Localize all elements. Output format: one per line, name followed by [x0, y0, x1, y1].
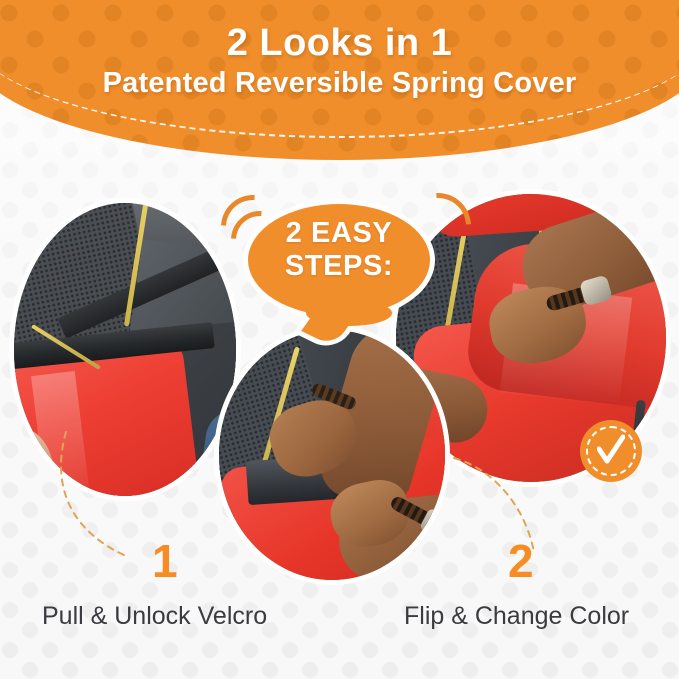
- tail-seam-mask: [306, 300, 392, 326]
- speech-bubble: 2 EASY STEPS:: [229, 189, 449, 349]
- step-caption-1: Pull & Unlock Velcro: [42, 602, 267, 630]
- page-subtitle: Patented Reversible Spring Cover: [0, 64, 679, 102]
- check-badge: [580, 420, 642, 482]
- photo-middle-content: [219, 330, 445, 580]
- page-title: 2 Looks in 1: [0, 22, 679, 64]
- bubble-line-1: 2 EASY: [243, 217, 435, 250]
- step-number-1: 1: [152, 538, 178, 584]
- speech-bubble-text: 2 EASY STEPS:: [243, 217, 435, 283]
- bubble-line-2: STEPS:: [243, 250, 435, 283]
- step-caption-2: Flip & Change Color: [404, 602, 629, 630]
- step-number-2: 2: [508, 538, 534, 584]
- photo-step-1-middle: [219, 330, 445, 580]
- check-icon: [597, 434, 625, 468]
- header-text-block: 2 Looks in 1 Patented Reversible Spring …: [0, 22, 679, 102]
- infographic-canvas: 2 EASY STEPS: 1 2 Pull & Unlock Velcro F…: [0, 0, 679, 679]
